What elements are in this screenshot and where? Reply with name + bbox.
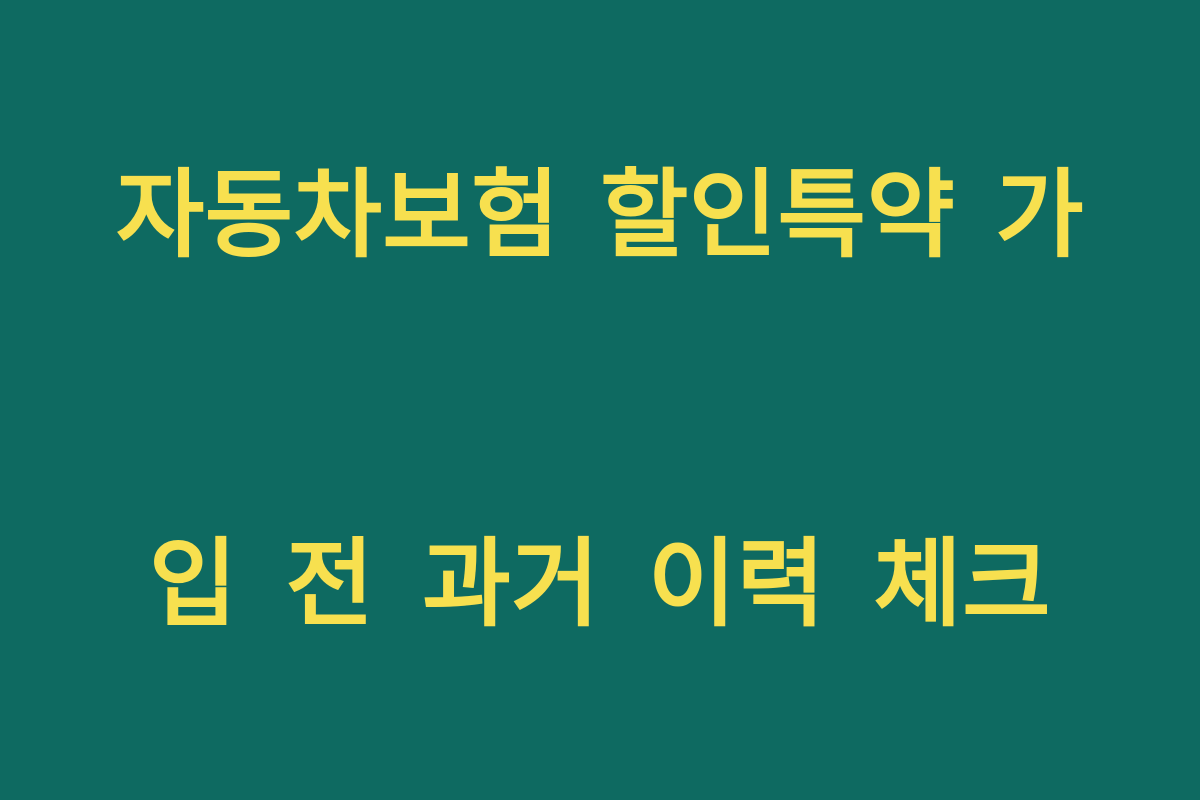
headline-line-2: 입 전 과거 이력 체크 (80, 523, 1120, 646)
headline-text: 자동차보험 할인특약 가 입 전 과거 이력 체크 (80, 0, 1120, 800)
banner-canvas: 자동차보험 할인특약 가 입 전 과거 이력 체크 (0, 0, 1200, 800)
headline-line-1: 자동차보험 할인특약 가 (80, 154, 1120, 277)
